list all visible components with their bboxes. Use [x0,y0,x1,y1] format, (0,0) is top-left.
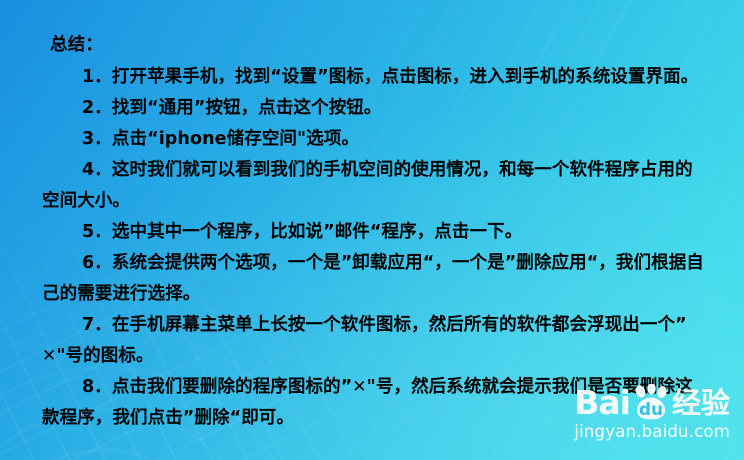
cross-mark-icon: ✕ [352,377,366,397]
step-item-3: 3．点击“iphone储存空间"选项。 [42,124,710,155]
step-number-2: 2． [82,98,112,118]
steps-list: 1．打开苹果手机，找到“设置”图标，点击图标，进入到手机的系统设置界面。 2．找… [42,62,710,434]
step-text-4: 这时我们就可以看到我们的手机空间的使用情况，和每一个软件程序占用的空间大小。 [42,160,693,211]
step-text-2: 找到“通用”按钮，点击这个按钮。 [112,98,382,118]
baidu-paw-icon: du [631,384,671,420]
step-item-2: 2．找到“通用”按钮，点击这个按钮。 [42,93,710,124]
baidu-jingyan-watermark: Bai du 经验 jingyan.baidu.com [534,382,730,448]
watermark-brand-cn: 经验 [672,386,730,420]
step-number-4: 4． [82,160,112,180]
watermark-url: jingyan.baidu.com [534,422,730,441]
step-number-6: 6． [82,253,112,273]
watermark-logo-row: Bai du 经验 [534,382,730,420]
step-number-7: 7． [82,315,112,335]
step-number-5: 5． [82,222,112,242]
summary-heading: 总结： [50,30,710,61]
slide-canvas: 总结： 1．打开苹果手机，找到“设置”图标，点击图标，进入到手机的系统设置界面。… [0,0,744,460]
step-item-1: 1．打开苹果手机，找到“设置”图标，点击图标，进入到手机的系统设置界面。 [42,62,710,93]
step-item-7: 7．在手机屏幕主菜单上长按一个软件图标，然后所有的软件都会浮现出一个”✕"号的图… [42,310,710,372]
step-number-3: 3． [82,129,112,149]
step-text-6: 系统会提供两个选项，一个是”卸载应用“，一个是”删除应用“，我们根据自己的需要进… [42,253,704,304]
step-text-7-after: "号的图标。 [56,346,153,366]
slide-text-body: 总结： 1．打开苹果手机，找到“设置”图标，点击图标，进入到手机的系统设置界面。… [42,30,710,434]
step-item-6: 6．系统会提供两个选项，一个是”卸载应用“，一个是”删除应用“，我们根据自己的需… [42,248,710,310]
step-text-7-before: 在手机屏幕主菜单上长按一个软件图标，然后所有的软件都会浮现出一个” [112,315,687,335]
step-text-1: 打开苹果手机，找到“设置”图标，点击图标，进入到手机的系统设置界面。 [112,67,698,87]
cross-mark-icon: ✕ [42,346,56,366]
step-number-1: 1． [82,67,112,87]
watermark-brand-latin: Bai [574,386,630,420]
step-text-3: 点击“iphone储存空间"选项。 [112,129,359,149]
svg-text:du: du [639,400,663,420]
step-item-5: 5．选中其中一个程序，比如说”邮件“程序，点击一下。 [42,217,710,248]
step-text-5: 选中其中一个程序，比如说”邮件“程序，点击一下。 [112,222,522,242]
step-number-8: 8． [82,377,112,397]
step-item-4: 4．这时我们就可以看到我们的手机空间的使用情况，和每一个软件程序占用的空间大小。 [42,155,710,217]
step-text-8-before: 点击我们要删除的程序图标的” [112,377,352,397]
